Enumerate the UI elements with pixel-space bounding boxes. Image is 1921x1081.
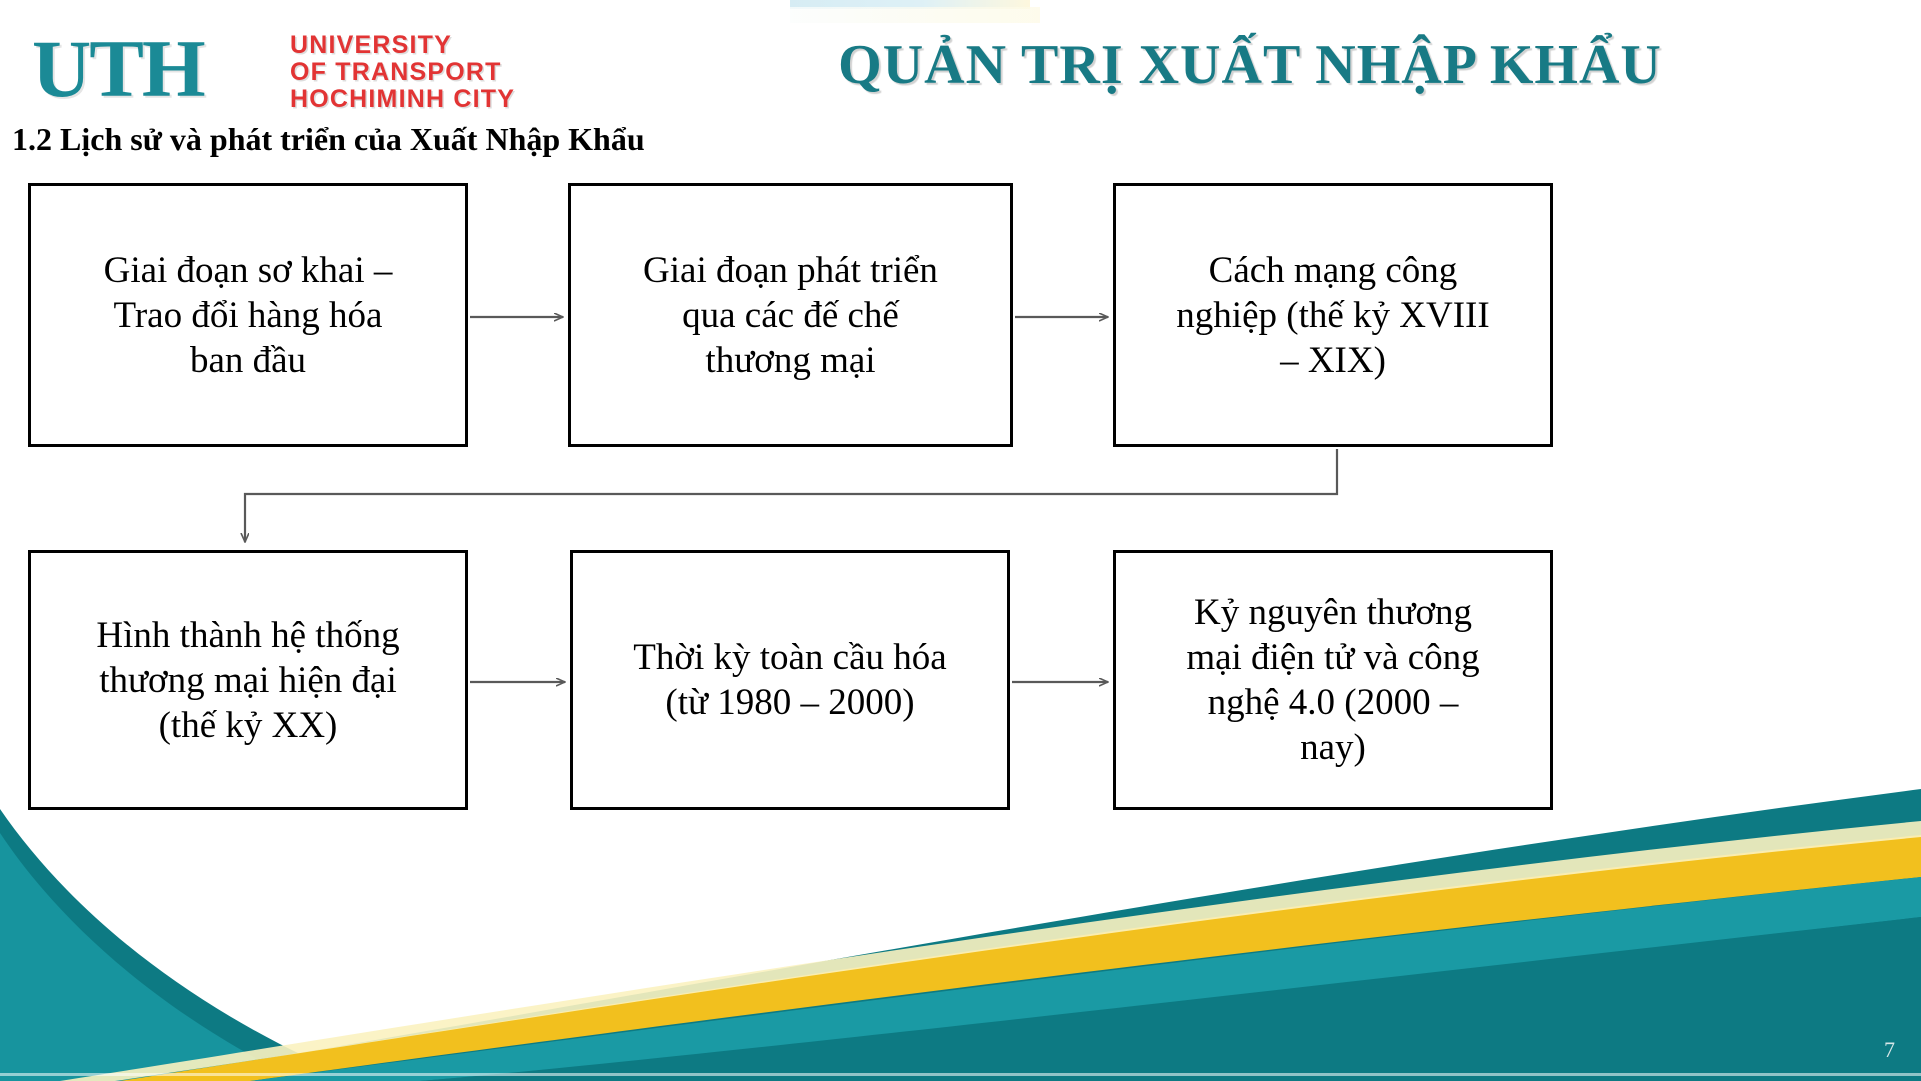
uth-logo-line-3: HOCHIMINH CITY	[290, 86, 515, 112]
page-number: 7	[1884, 1037, 1895, 1063]
flow-box-5-label: Thời kỳ toàn cầu hóa (từ 1980 – 2000)	[633, 635, 946, 725]
flow-box-4-label: Hình thành hệ thống thương mại hiện đại …	[96, 613, 399, 748]
flow-box-1-label: Giai đoạn sơ khai – Trao đổi hàng hóa ba…	[104, 248, 393, 383]
top-accent-bar-secondary	[790, 7, 1040, 23]
flow-box-2[interactable]: Giai đoạn phát triển qua các đế chế thươ…	[568, 183, 1013, 447]
flow-box-1[interactable]: Giai đoạn sơ khai – Trao đổi hàng hóa ba…	[28, 183, 468, 447]
section-heading: 1.2 Lịch sử và phát triển của Xuất Nhập …	[12, 120, 645, 158]
flow-box-6[interactable]: Kỷ nguyên thương mại điện tử và công ngh…	[1113, 550, 1553, 810]
uth-logo: UTH UNIVERSITY OF TRANSPORT HOCHIMINH CI…	[32, 28, 522, 110]
flow-box-5[interactable]: Thời kỳ toàn cầu hóa (từ 1980 – 2000)	[570, 550, 1010, 810]
flow-box-2-label: Giai đoạn phát triển qua các đế chế thươ…	[643, 248, 938, 383]
flow-box-6-label: Kỷ nguyên thương mại điện tử và công ngh…	[1186, 590, 1479, 770]
flow-box-4[interactable]: Hình thành hệ thống thương mại hiện đại …	[28, 550, 468, 810]
slide-canvas: UTH UNIVERSITY OF TRANSPORT HOCHIMINH CI…	[0, 0, 1921, 1081]
slide-title: QUẢN TRỊ XUẤT NHẬP KHẨU	[600, 34, 1900, 96]
uth-logo-line-1: UNIVERSITY	[290, 32, 515, 58]
uth-logo-text: UNIVERSITY OF TRANSPORT HOCHIMINH CITY	[290, 32, 515, 113]
uth-logo-line-2: OF TRANSPORT	[290, 59, 515, 85]
flow-box-3-label: Cách mạng công nghiệp (thế kỷ XVIII – XI…	[1176, 248, 1489, 383]
flow-box-3[interactable]: Cách mạng công nghiệp (thế kỷ XVIII – XI…	[1113, 183, 1553, 447]
decorative-swoosh	[0, 781, 1921, 1081]
connector-box3-box4	[245, 449, 1337, 542]
uth-logo-mark: UTH	[32, 28, 204, 110]
